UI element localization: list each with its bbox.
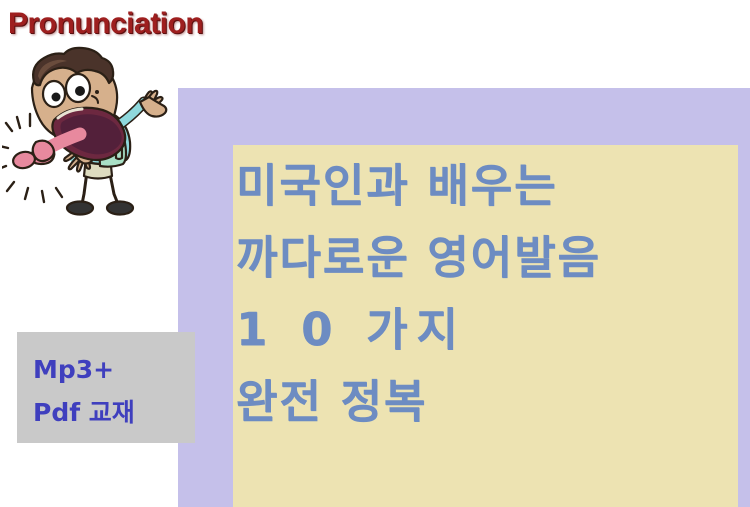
materials-badge: Mp3+ Pdf 교재 [17, 332, 195, 443]
headline-line-1: 미국인과 배우는 [236, 150, 736, 222]
materials-badge-text: Mp3+ Pdf 교재 [33, 348, 135, 434]
headline-line-3: 1 0 가지 [236, 294, 736, 366]
headline-line-4: 완전 정복 [236, 366, 736, 438]
headline-block: 미국인과 배우는 까다로운 영어발음 1 0 가지 완전 정복 [236, 150, 736, 438]
shouting-boy-with-knotted-tongue-icon [2, 36, 170, 218]
headline-line-2: 까다로운 영어발음 [236, 222, 736, 294]
poster-canvas: Pronunciation [0, 0, 750, 507]
materials-badge-line-2: Pdf 교재 [33, 391, 135, 434]
materials-badge-line-1: Mp3+ [33, 348, 135, 391]
